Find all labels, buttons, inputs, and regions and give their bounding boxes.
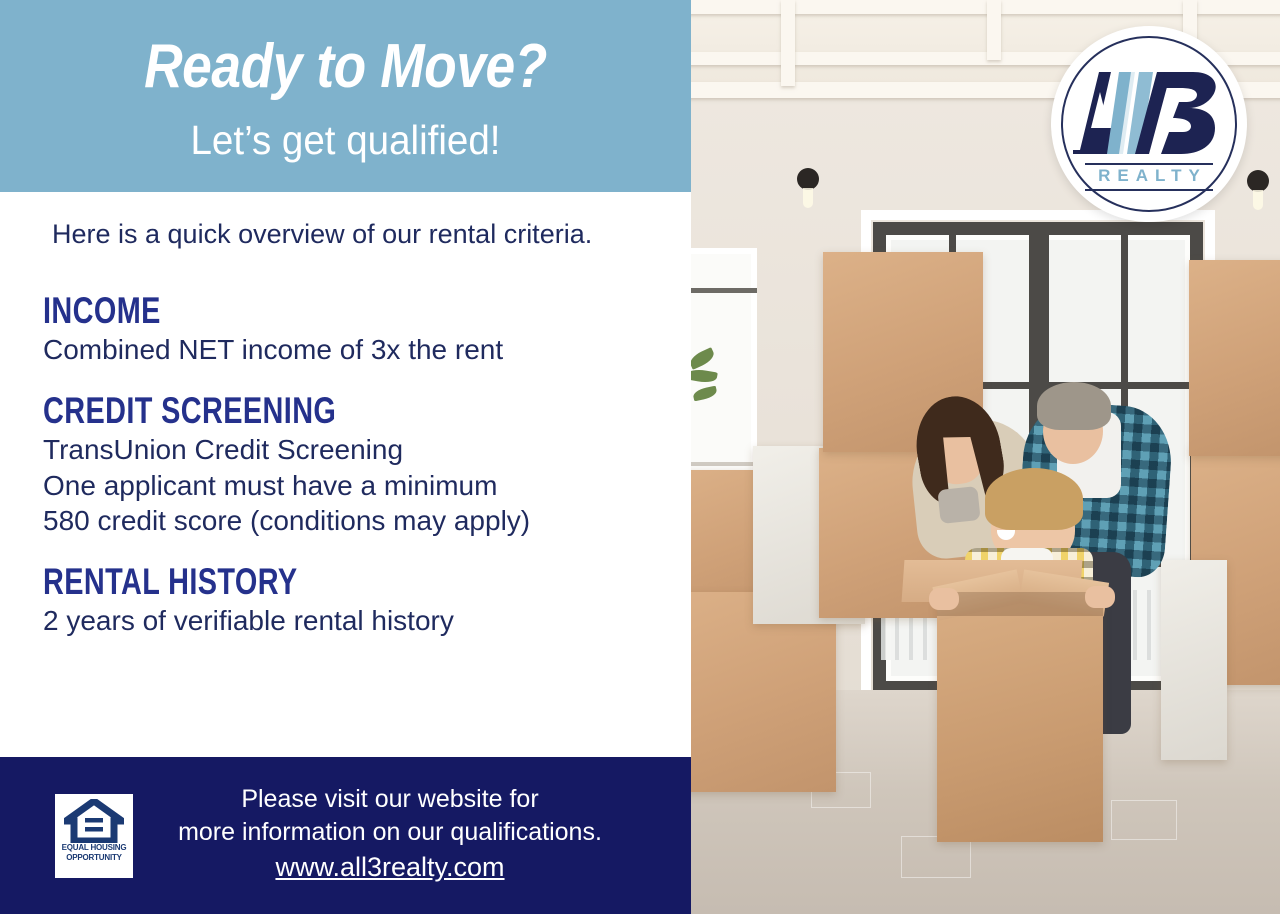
footer-band: EQUAL HOUSING OPPORTUNITY Please visit o… [0,757,691,914]
ceiling-beam [987,0,1001,60]
footer-line-2: more information on our qualifications. [120,816,660,849]
footer-message: Please visit our website for more inform… [120,783,660,885]
page-subtitle: Let’s get qualified! [21,120,671,161]
criteria-panel: Here is a quick overview of our rental c… [0,192,691,757]
mother-top [937,486,980,524]
wrapped-item [1161,560,1227,760]
moving-box [1189,260,1280,456]
header-band: Ready to Move? Let’s get qualified! [0,0,691,192]
wall-sconce-icon [797,168,819,190]
criteria-line: One applicant must have a minimum [43,468,673,504]
criteria-line: 580 credit score (conditions may apply) [43,503,673,539]
front-moving-box [937,592,1103,842]
left-content-column: Ready to Move? Let’s get qualified! Here… [0,0,691,914]
wall-sconce-icon [1247,170,1269,192]
potted-plant [691,352,727,410]
window-mullion [691,288,757,293]
criteria-heading: RENTAL HISTORY [43,563,534,600]
child-hand [1085,586,1115,608]
criteria-list: INCOME Combined NET income of 3x the ren… [43,292,673,639]
father-hair [1037,382,1111,430]
footer-line-1: Please visit our website for [120,783,660,816]
window-mullion [691,462,757,466]
website-link[interactable]: www.all3realty.com [275,850,504,885]
sconce-bulb [1253,190,1263,210]
criteria-item-rental-history: RENTAL HISTORY 2 years of verifiable ren… [43,563,673,639]
logo-divider-bottom [1085,189,1213,191]
criteria-heading: INCOME [43,292,534,329]
all3-realty-logo: REALTY [1051,26,1247,222]
criteria-heading: CREDIT SCREENING [43,392,534,429]
equal-housing-icon [64,799,124,843]
page-title: Ready to Move? [48,36,642,98]
logo-mark [1051,62,1247,167]
intro-text: Here is a quick overview of our rental c… [52,219,592,250]
child-hair [985,468,1083,530]
all3-monogram-icon [1065,62,1233,162]
criteria-item-income: INCOME Combined NET income of 3x the ren… [43,292,673,368]
sconce-bulb [803,188,813,208]
criteria-line: 2 years of verifiable rental history [43,603,673,639]
floor-tile [1111,800,1177,840]
front-box-inner-shadow [937,592,1103,616]
criteria-line: Combined NET income of 3x the rent [43,332,673,368]
child-hand [929,588,959,610]
criteria-line: TransUnion Credit Screening [43,432,673,468]
floor-tile [901,836,971,878]
criteria-item-credit-screening: CREDIT SCREENING TransUnion Credit Scree… [43,392,673,539]
logo-divider-top [1085,163,1213,165]
logo-wordmark: REALTY [1051,166,1247,186]
ceiling-beam [781,0,795,86]
rental-criteria-flyer: Ready to Move? Let’s get qualified! Here… [0,0,1280,914]
